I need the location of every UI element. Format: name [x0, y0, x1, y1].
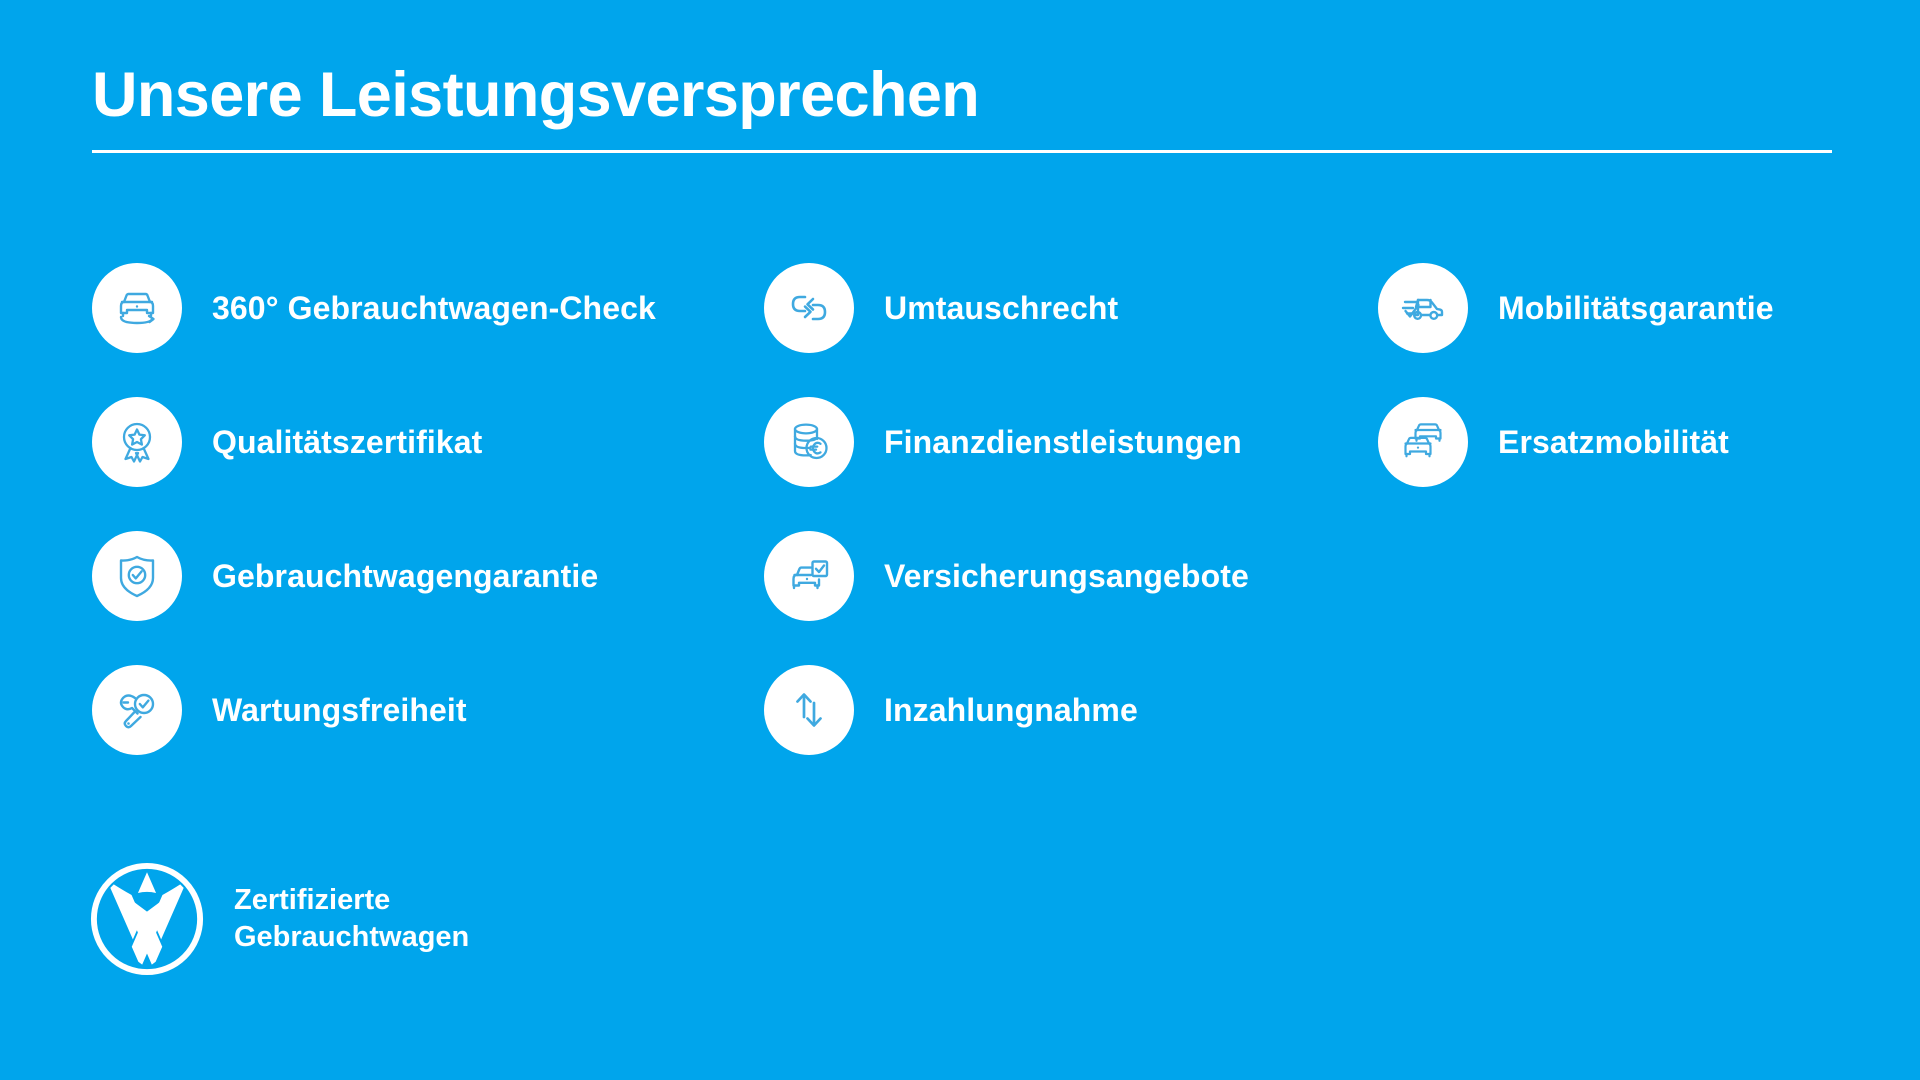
feature-item-replacement-mobility[interactable]: Ersatzmobilität [1378, 396, 1898, 488]
feature-label: Qualitätszertifikat [212, 424, 482, 461]
feature-label: 360° Gebrauchtwagen-Check [212, 290, 656, 327]
feature-label: Versicherungsangebote [884, 558, 1249, 595]
feature-item-trade-in[interactable]: Inzahlungnahme [764, 664, 1384, 756]
title-divider [92, 150, 1832, 153]
feature-item-insurance-offers[interactable]: Versicherungsangebote [764, 530, 1384, 622]
feature-label: Wartungsfreiheit [212, 692, 467, 729]
feature-label: Inzahlungnahme [884, 692, 1138, 729]
icon-badge [764, 665, 854, 755]
feature-column-2: Umtauschrecht Finanz [764, 262, 1384, 798]
feature-label: Mobilitätsgarantie [1498, 290, 1774, 327]
feature-label: Umtauschrecht [884, 290, 1118, 327]
icon-badge [764, 263, 854, 353]
shield-check-icon [111, 550, 163, 602]
feature-label: Ersatzmobilität [1498, 424, 1729, 461]
promo-slide: Unsere Leistungsversprechen [0, 0, 1920, 1080]
icon-badge [92, 665, 182, 755]
two-cars-icon [1397, 416, 1449, 468]
award-ribbon-star-icon [111, 416, 163, 468]
feature-label: Finanzdienstleistungen [884, 424, 1242, 461]
up-down-arrows-icon [783, 684, 835, 736]
volkswagen-logo [88, 860, 206, 978]
feature-item-financial-services[interactable]: Finanzdienstleistungen [764, 396, 1384, 488]
feature-item-used-car-warranty[interactable]: Gebrauchtwagengarantie [92, 530, 752, 622]
feature-item-maintenance-free[interactable]: Wartungsfreiheit [92, 664, 752, 756]
brand-text: Zertifizierte Gebrauchtwagen [234, 882, 469, 956]
feature-column-1: 360° Gebrauchtwagen-Check Qualitätszerti… [92, 262, 752, 798]
icon-badge [92, 263, 182, 353]
brand-line-1: Zertifizierte [234, 882, 469, 919]
brand-lockup: Zertifizierte Gebrauchtwagen [88, 860, 469, 978]
icon-badge [92, 531, 182, 621]
feature-column-3: Mobilitätsgarantie E [1378, 262, 1898, 530]
exchange-arrows-icon [783, 282, 835, 334]
moving-van-check-icon [1397, 282, 1449, 334]
icon-badge [1378, 263, 1468, 353]
feature-item-exchange-right[interactable]: Umtauschrecht [764, 262, 1384, 354]
icon-badge [764, 531, 854, 621]
car-360-rotation-icon [111, 282, 163, 334]
brand-line-2: Gebrauchtwagen [234, 919, 469, 956]
car-checkbox-icon [783, 550, 835, 602]
coins-euro-icon [783, 416, 835, 468]
wrench-check-icon [111, 684, 163, 736]
header: Unsere Leistungsversprechen [92, 62, 1832, 153]
icon-badge [1378, 397, 1468, 487]
feature-item-quality-certificate[interactable]: Qualitätszertifikat [92, 396, 752, 488]
page-title: Unsere Leistungsversprechen [92, 62, 1832, 128]
feature-label: Gebrauchtwagengarantie [212, 558, 598, 595]
feature-item-360-check[interactable]: 360° Gebrauchtwagen-Check [92, 262, 752, 354]
icon-badge [92, 397, 182, 487]
feature-item-mobility-guarantee[interactable]: Mobilitätsgarantie [1378, 262, 1898, 354]
icon-badge [764, 397, 854, 487]
